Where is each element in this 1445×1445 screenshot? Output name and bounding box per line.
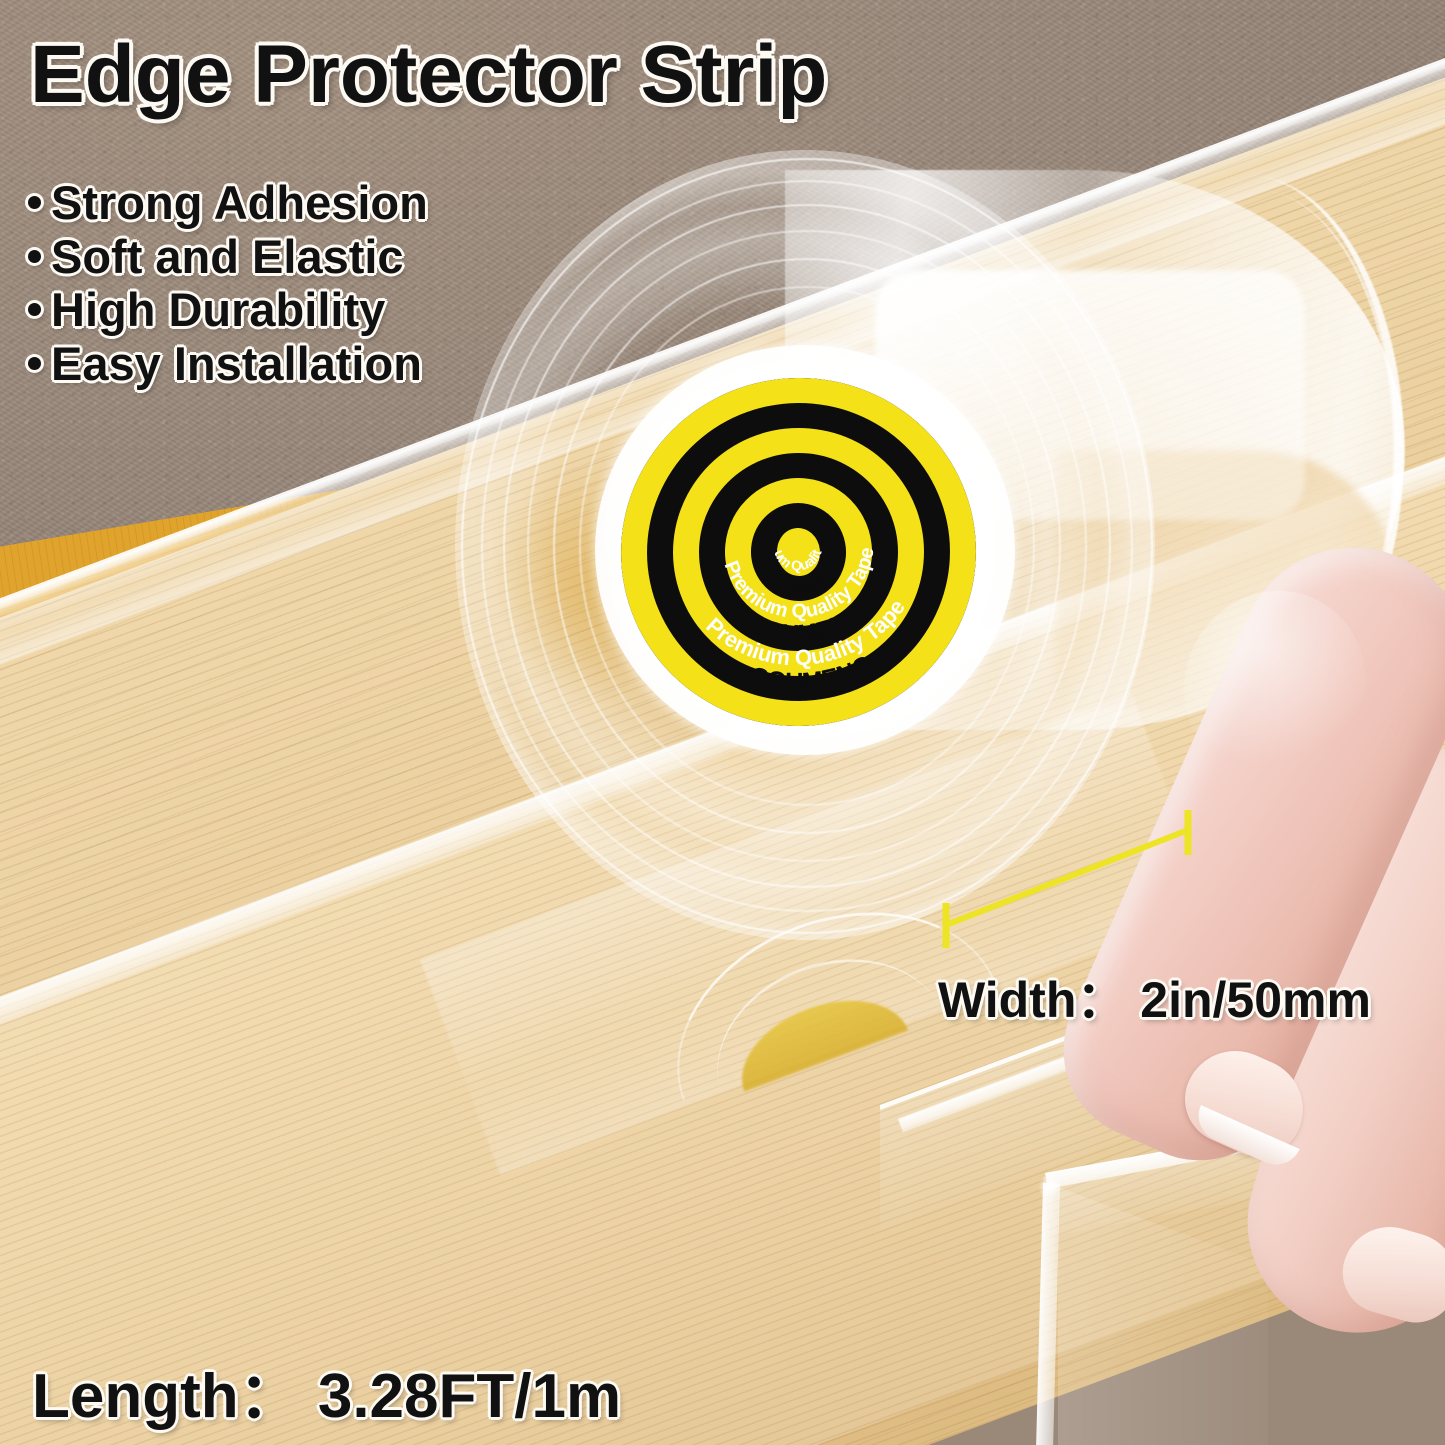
feature-label: Soft and Elastic bbox=[51, 230, 404, 284]
feature-label: Strong Adhesion bbox=[51, 176, 428, 230]
feature-item: Strong Adhesion bbox=[28, 176, 428, 230]
page-title: Edge Protector Strip bbox=[30, 34, 827, 116]
feature-item: Easy Installation bbox=[28, 337, 428, 391]
bullet-dot-icon bbox=[28, 303, 41, 316]
width-spec-label: Width： 2in/50mm bbox=[938, 960, 1371, 1032]
l-protector-corner-glint bbox=[1038, 1175, 1062, 1199]
bullet-dot-icon bbox=[28, 196, 41, 209]
feature-label: Easy Installation bbox=[51, 337, 422, 391]
bullet-dot-icon bbox=[28, 250, 41, 263]
feature-label: High Durability bbox=[51, 283, 385, 337]
feature-item: High Durability bbox=[28, 283, 428, 337]
width-dimension-line bbox=[930, 805, 1220, 955]
l-protector-corner-line bbox=[1035, 1183, 1060, 1445]
feature-list: Strong Adhesion Soft and Elastic High Du… bbox=[28, 176, 428, 390]
bullet-dot-icon bbox=[28, 357, 41, 370]
length-spec-label: Length： 3.28FT/1m bbox=[32, 1345, 621, 1435]
feature-item: Soft and Elastic bbox=[28, 230, 428, 284]
dimension-line bbox=[946, 830, 1188, 925]
product-marketing-image: COUMENO Premium Quality Tape COUMENO Pre… bbox=[0, 0, 1445, 1445]
